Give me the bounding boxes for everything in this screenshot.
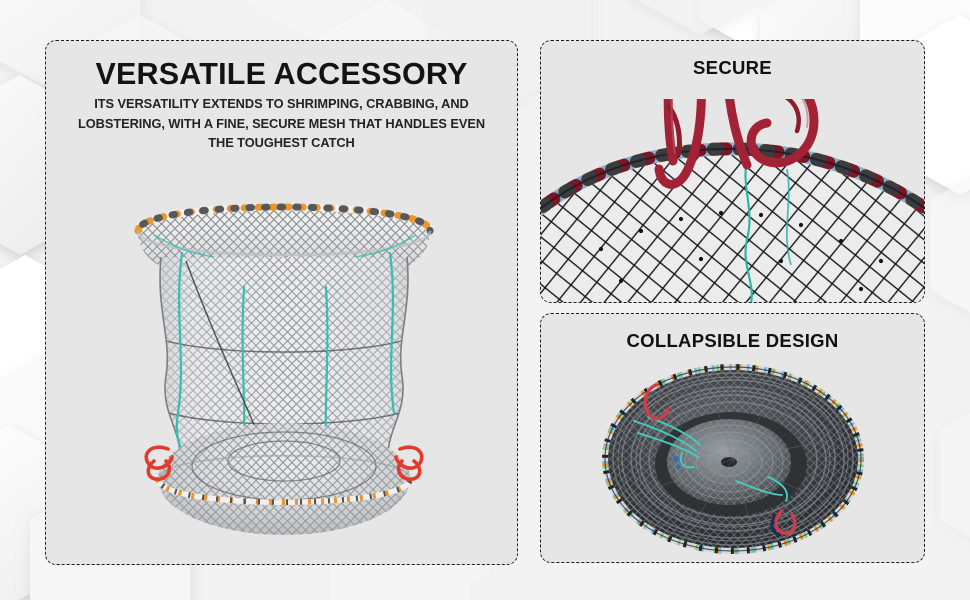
product-image-secure-rim	[541, 99, 925, 303]
main-subtitle: ITS VERSATILITY EXTENDS TO SHRIMPING, CR…	[66, 94, 497, 153]
page-title: VERSATILE ACCESSORY	[46, 59, 517, 90]
infographic-canvas: VERSATILE ACCESSORY ITS VERSATILITY EXTE…	[0, 0, 970, 600]
panel-collapsible-design: COLLAPSIBLE DESIGN	[540, 313, 925, 563]
panel-versatile-accessory: VERSATILE ACCESSORY ITS VERSATILITY EXTE…	[45, 40, 518, 565]
product-image-cylindrical-trap	[94, 161, 474, 541]
secure-title: SECURE	[541, 59, 924, 78]
collapsible-title: COLLAPSIBLE DESIGN	[541, 332, 924, 351]
panel-secure: SECURE	[540, 40, 925, 303]
product-image-collapsed-trap	[586, 359, 881, 559]
